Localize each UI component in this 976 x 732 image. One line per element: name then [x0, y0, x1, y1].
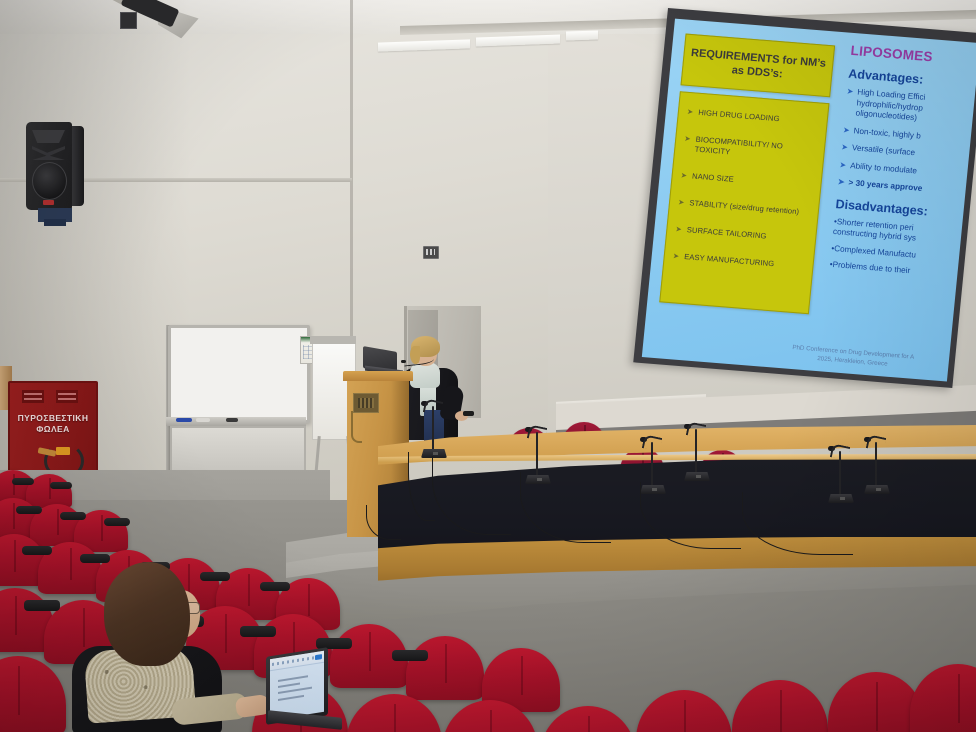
pa-speaker-side [70, 126, 84, 206]
fire-cabinet-label: ΠΥΡΟΣΒΕΣΤΙΚΗΦΩΛΕΑ [8, 413, 98, 435]
slide-liposomes-column: LIPOSOMES Advantages: ➤ High Loading Eff… [829, 43, 976, 286]
document-text-line [278, 675, 308, 681]
pa-speaker-logo [43, 200, 54, 205]
pa-speaker-woofer [32, 162, 67, 200]
wall-control-box [423, 246, 439, 259]
chevron-right-icon: ➤ [675, 224, 682, 234]
pa-speaker-icon [26, 118, 86, 216]
chevron-right-icon: ➤ [842, 125, 850, 136]
list-item-label: HIGH DRUG LOADING [698, 108, 780, 124]
microphone-base[interactable] [684, 472, 710, 481]
marker-blue-icon[interactable] [176, 418, 192, 422]
pa-speaker-bracket-lower [44, 219, 66, 226]
microphone-neck [651, 442, 653, 486]
ceiling-fixture-mount [120, 12, 137, 29]
list-item-label: BIOCOMPATIBILITY/ NO TOXICITY [694, 135, 820, 165]
chevron-right-icon: ➤ [678, 197, 685, 207]
microphone-led-icon [876, 488, 881, 491]
whiteboard-surface[interactable] [168, 325, 310, 423]
seat-armrest [104, 518, 130, 526]
audience-member [68, 562, 258, 732]
list-item: ➤ HIGH DRUG LOADING [686, 107, 823, 128]
gooseneck-microphone[interactable] [682, 421, 712, 481]
list-item-label: •Problems due to their [829, 260, 956, 281]
flipchart-clamp [310, 336, 356, 344]
seat-armrest [60, 512, 86, 520]
chevron-right-icon: ➤ [837, 177, 845, 188]
list-item: ➤ NANO SIZE [680, 171, 817, 192]
microphone-base[interactable] [864, 485, 890, 494]
desk-papers[interactable] [566, 30, 598, 40]
list-item: ➤ Versatile (surface [841, 142, 968, 163]
list-item-label: NANO SIZE [692, 171, 735, 184]
fire-cabinet-vent-right [56, 390, 78, 403]
microphone-neck [695, 429, 697, 473]
list-item-label: EASY MANUFACTURING [684, 252, 775, 269]
lectern-cable [351, 411, 362, 443]
slide-requirements-list: ➤ HIGH DRUG LOADING ➤ BIOCOMPATIBILITY/ … [659, 91, 829, 314]
seat-armrest [22, 546, 52, 555]
projection-screen: REQUIREMENTS for NM’sas DDS’s: ➤ HIGH DR… [631, 8, 976, 412]
document-text-line [278, 687, 312, 694]
document-text-line [278, 683, 300, 688]
slide-requirements-title: REQUIREMENTS for NM’sas DDS’s: [681, 33, 836, 97]
fire-cabinet-plate [56, 447, 70, 455]
ceiling-light-icon [104, 0, 224, 50]
eraser-icon[interactable] [196, 418, 210, 422]
list-item-label: STABILITY (size/drug retention) [689, 198, 800, 217]
microphone-led-icon [696, 475, 701, 478]
lectern-plaque [353, 393, 379, 413]
chevron-right-icon: ➤ [686, 107, 693, 117]
lecture-hall-photo: ΠΥΡΟΣΒΕΣΤΙΚΗΦΩΛΕΑ REQUIREMENTS for NM’sa… [0, 0, 976, 732]
laptop-screen[interactable] [270, 651, 324, 721]
audience-hair [104, 562, 190, 666]
chevron-right-icon: ➤ [846, 87, 854, 98]
list-item-label: > 30 years approve [848, 178, 923, 194]
chevron-right-icon: ➤ [839, 160, 847, 171]
seat-armrest [50, 482, 72, 489]
list-item-label: Non-toxic, highly b [853, 126, 921, 142]
fire-hose-cabinet[interactable]: ΠΥΡΟΣΒΕΣΤΙΚΗΦΩΛΕΑ [8, 381, 98, 479]
fire-cabinet-vent-left [22, 390, 44, 403]
list-item: ➤ Non-toxic, highly b [842, 125, 969, 146]
chevron-right-icon: ➤ [683, 134, 691, 154]
microphone-neck [875, 442, 877, 486]
slide-liposomes-title: LIPOSOMES [850, 43, 976, 68]
toolbar-accent-icon [315, 654, 322, 660]
lectern-top [343, 371, 413, 381]
list-item: ➤ EASY MANUFACTURING [672, 251, 809, 272]
list-item-label: Versatile (surface [851, 143, 915, 159]
chevron-right-icon: ➤ [680, 171, 687, 181]
slide-canvas: REQUIREMENTS for NM’sas DDS’s: ➤ HIGH DR… [642, 19, 976, 382]
seat-armrest [24, 600, 60, 611]
whiteboard[interactable] [166, 325, 308, 475]
laptop-keyboard-base[interactable] [268, 710, 342, 730]
slide-advantages-heading: Advantages: [848, 67, 975, 91]
microphone-neck [536, 432, 538, 476]
microphone-neck [432, 406, 434, 450]
slide-disadvantages-heading: Disadvantages: [835, 197, 962, 221]
microphone-neck [839, 451, 841, 495]
seat-armrest [260, 582, 290, 591]
document-text-line [278, 695, 304, 701]
chevron-right-icon: ➤ [841, 142, 849, 153]
list-item-label: SURFACE TAILORING [686, 225, 767, 241]
list-item: ➤ Ability to modulate [839, 160, 966, 181]
gooseneck-microphone[interactable] [419, 398, 449, 458]
list-item: ➤ STABILITY (size/drug retention) [678, 197, 815, 218]
seat-armrest [16, 506, 42, 514]
audience-laptop[interactable] [266, 652, 344, 732]
panel-desk-base [378, 537, 976, 593]
list-item: ➤ > 30 years approve [837, 177, 964, 198]
seat-armrest [392, 650, 428, 661]
presentation-clicker-icon[interactable] [463, 411, 474, 416]
gooseneck-microphone[interactable] [862, 434, 892, 494]
slide-footer: PhD Conference on Drug Development for A… [762, 341, 943, 373]
list-item-label: Ability to modulate [850, 161, 918, 177]
whiteboard-lower-panel [170, 426, 306, 474]
chevron-right-icon: ➤ [672, 251, 679, 261]
marker-black-icon[interactable] [226, 418, 238, 422]
seat-armrest [12, 478, 34, 485]
list-item: ➤ SURFACE TAILORING [675, 224, 812, 245]
list-item: ➤ BIOCOMPATIBILITY/ NO TOXICITY [683, 134, 821, 165]
